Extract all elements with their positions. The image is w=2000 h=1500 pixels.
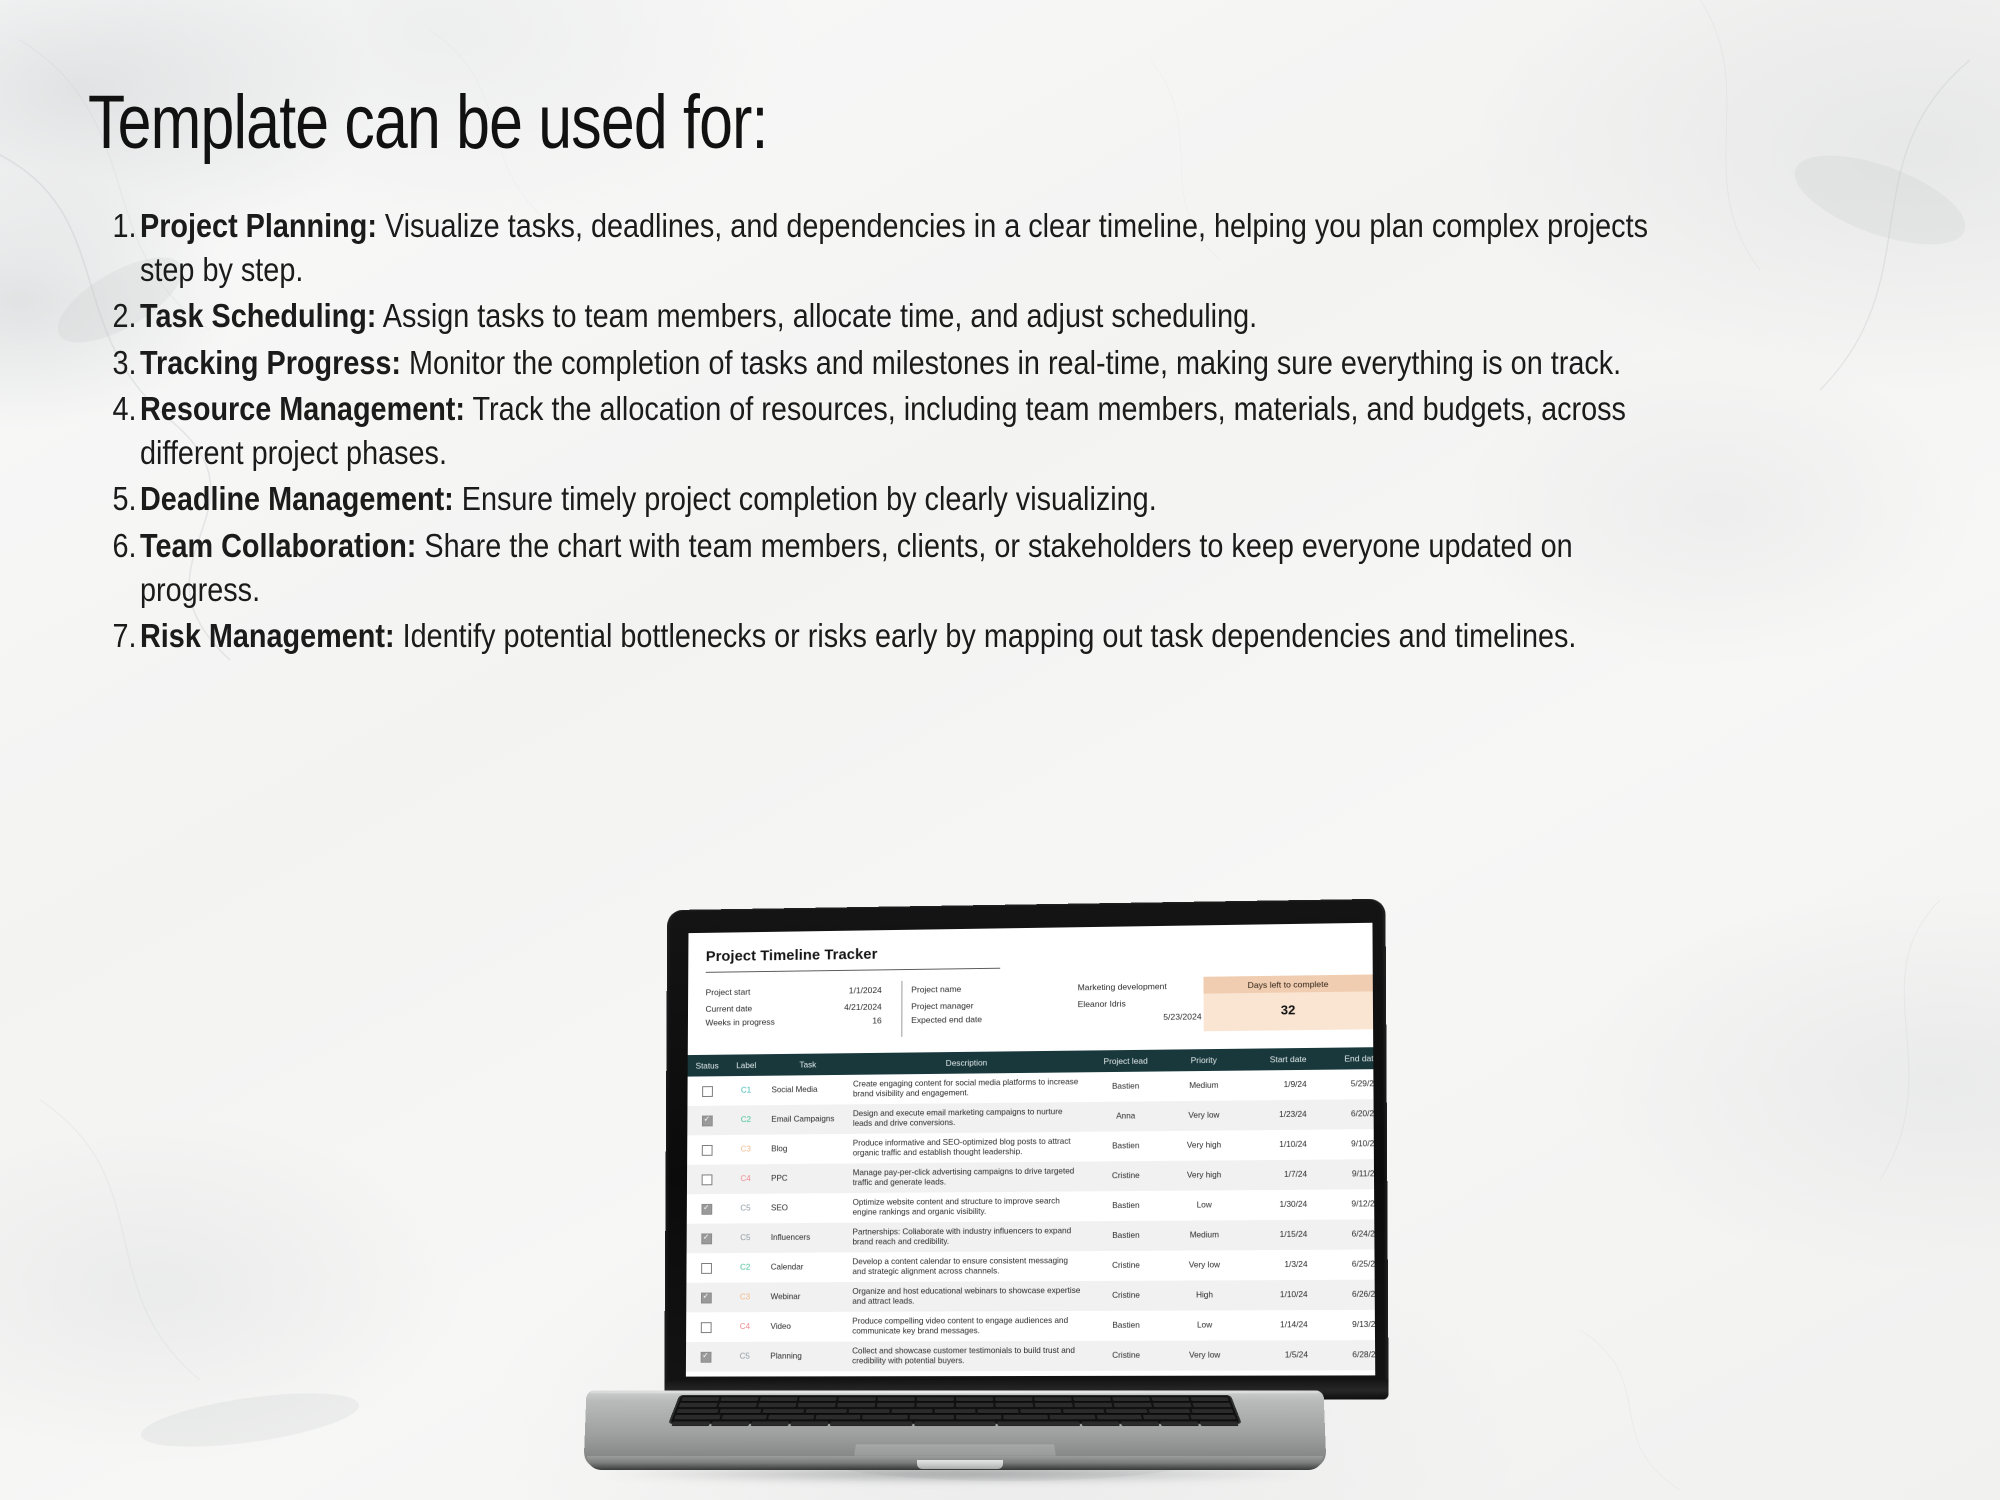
task-name: Blog bbox=[765, 1134, 847, 1164]
keyboard-key bbox=[1106, 1409, 1148, 1413]
priority-value: Very low bbox=[1165, 1100, 1243, 1131]
task-description: Produce compelling video content to enga… bbox=[846, 1311, 1087, 1342]
list-item: 3. Tracking Progress: Monitor the comple… bbox=[100, 342, 1930, 386]
checkbox-icon[interactable] bbox=[700, 1351, 711, 1362]
table-row: C3WebinarOrganize and host educational w… bbox=[686, 1279, 1375, 1312]
title-underline bbox=[706, 968, 1000, 973]
table-row: C5SEOOptimize website content and struct… bbox=[687, 1189, 1375, 1224]
col-status: Status bbox=[688, 1055, 727, 1077]
keyboard-key bbox=[1191, 1409, 1233, 1413]
label-tag: C1 bbox=[726, 1076, 765, 1106]
keyboard-key bbox=[1151, 1397, 1189, 1401]
label-tag: C4 bbox=[725, 1312, 764, 1342]
keyboard-key bbox=[815, 1415, 860, 1419]
keyboard-key bbox=[1063, 1409, 1105, 1413]
end-date: 6/25/24 bbox=[1316, 1249, 1376, 1280]
list-item-term: Risk Management: bbox=[140, 618, 395, 655]
keyboard-key bbox=[909, 1415, 954, 1419]
keyboard-key bbox=[762, 1409, 804, 1413]
task-name: Calendar bbox=[765, 1252, 847, 1282]
keyboard-key bbox=[760, 1397, 798, 1401]
keyboard-key bbox=[877, 1403, 915, 1407]
end-date: 9/12/24 bbox=[1315, 1189, 1375, 1220]
keyboard-key bbox=[758, 1403, 796, 1407]
col-start-date: Start date bbox=[1243, 1048, 1315, 1071]
task-name: Video bbox=[765, 1312, 847, 1342]
info-value: 16 bbox=[819, 1015, 902, 1026]
keyboard-key bbox=[805, 1409, 847, 1413]
start-date: 1/15/24 bbox=[1244, 1220, 1316, 1250]
keyboard-key bbox=[1200, 1421, 1239, 1425]
label-tag: C5 bbox=[726, 1194, 765, 1224]
start-date: 1/14/24 bbox=[1244, 1310, 1316, 1340]
list-item-body: Ensure timely project completion by clea… bbox=[454, 481, 1157, 518]
task-description: Develop a content calendar to ensure con… bbox=[846, 1251, 1086, 1282]
keyboard-key bbox=[1082, 1421, 1120, 1425]
keyboard-key bbox=[1190, 1397, 1229, 1401]
priority-value: Very high bbox=[1165, 1371, 1244, 1377]
checkbox-icon[interactable] bbox=[701, 1262, 712, 1273]
keyboard-key bbox=[1148, 1409, 1190, 1413]
task-description: Conduct research on competitors' marketi… bbox=[846, 1371, 1087, 1377]
keyboard-key bbox=[1190, 1415, 1236, 1419]
project-lead: Cristine bbox=[1087, 1251, 1165, 1281]
use-cases-list: 1. Project Planning: Visualize tasks, de… bbox=[100, 205, 1930, 661]
start-date: 1/10/24 bbox=[1243, 1130, 1315, 1161]
keyboard-key bbox=[676, 1409, 718, 1413]
keyboard-key bbox=[956, 1415, 1001, 1419]
info-key: Weeks in progress bbox=[705, 1016, 818, 1027]
list-item-number: 7. bbox=[106, 615, 140, 659]
list-item-text: Task Scheduling: Assign tasks to team me… bbox=[140, 295, 1679, 339]
spreadsheet-title: Project Timeline Tracker bbox=[706, 946, 878, 965]
keyboard-key bbox=[799, 1397, 837, 1401]
task-name: PPC bbox=[765, 1163, 847, 1193]
project-lead: Cristine bbox=[1087, 1281, 1165, 1311]
col-end-date: End date bbox=[1315, 1047, 1376, 1070]
keyboard-key bbox=[718, 1403, 757, 1407]
task-description: Design and execute email marketing campa… bbox=[847, 1102, 1087, 1134]
list-item-term: Tracking Progress: bbox=[140, 345, 401, 382]
label-tag: C2 bbox=[726, 1253, 765, 1283]
label-tag: C3 bbox=[725, 1372, 764, 1377]
list-item-term: Team Collaboration: bbox=[140, 528, 416, 565]
end-date: 9/12/24 bbox=[1316, 1370, 1375, 1376]
keyboard-key bbox=[935, 1409, 976, 1413]
list-item: 7. Risk Management: Identify potential b… bbox=[100, 615, 1930, 659]
keyboard-key bbox=[1192, 1403, 1231, 1407]
keyboard-key bbox=[891, 1409, 932, 1413]
list-item: 6. Team Collaboration: Share the chart w… bbox=[100, 525, 1930, 613]
priority-value: Low bbox=[1165, 1190, 1244, 1220]
keyboard-key bbox=[674, 1415, 720, 1419]
label-tag: C3 bbox=[725, 1282, 764, 1312]
status-checkbox[interactable] bbox=[687, 1076, 726, 1106]
start-date: 1/10/24 bbox=[1244, 1280, 1316, 1310]
project-lead: Bastien bbox=[1087, 1311, 1165, 1341]
task-name: Social Media bbox=[766, 1075, 848, 1105]
end-date: 6/20/24 bbox=[1315, 1099, 1375, 1130]
keyboard-key bbox=[719, 1409, 761, 1413]
keyboard-key bbox=[1153, 1403, 1192, 1407]
keyboard-key bbox=[914, 1421, 996, 1425]
laptop-keyboard bbox=[671, 1396, 1240, 1423]
label-tag: C5 bbox=[726, 1223, 765, 1253]
keyboard-key bbox=[679, 1403, 718, 1407]
priority-value: Low bbox=[1165, 1310, 1244, 1340]
status-checkbox[interactable] bbox=[687, 1164, 726, 1194]
start-date: 1/23/24 bbox=[1243, 1100, 1315, 1131]
col-description: Description bbox=[847, 1051, 1087, 1075]
project-lead: Bastien bbox=[1087, 1221, 1165, 1251]
end-date: 9/13/24 bbox=[1316, 1310, 1375, 1340]
keyboard-key bbox=[1143, 1415, 1189, 1419]
status-checkbox[interactable] bbox=[686, 1312, 725, 1342]
info-key: Expected end date bbox=[911, 1013, 1077, 1025]
keyboard-key bbox=[917, 1397, 954, 1401]
project-info-right: Project name Marketing development Proje… bbox=[901, 977, 1209, 1037]
label-tag: C4 bbox=[726, 1164, 765, 1194]
list-item-term: Project Planning: bbox=[140, 208, 377, 245]
status-checkbox[interactable] bbox=[686, 1372, 725, 1377]
keyboard-key bbox=[995, 1397, 1032, 1401]
keyboard-key bbox=[1035, 1403, 1073, 1407]
info-value: Marketing development bbox=[1078, 980, 1210, 992]
task-name: SEO bbox=[765, 1193, 847, 1223]
task-name: Planning bbox=[764, 1342, 846, 1372]
checkbox-icon[interactable] bbox=[701, 1174, 712, 1185]
info-row: Weeks in progress 16 bbox=[705, 1014, 901, 1039]
keyboard-key bbox=[877, 1397, 914, 1401]
info-value: 1/1/2024 bbox=[819, 984, 902, 995]
laptop-screen: Project Timeline Tracker Project start 1… bbox=[686, 923, 1375, 1377]
list-item-number: 1. bbox=[106, 205, 140, 249]
task-description: Organize and host educational webinars t… bbox=[846, 1281, 1087, 1312]
end-date: 5/29/24 bbox=[1315, 1069, 1376, 1100]
checkbox-icon[interactable] bbox=[701, 1203, 712, 1214]
list-item-body: Monitor the completion of tasks and mile… bbox=[401, 345, 1621, 382]
info-key: Current date bbox=[706, 1002, 819, 1013]
task-description: Create engaging content for social media… bbox=[847, 1072, 1087, 1104]
list-item-number: 5. bbox=[106, 478, 140, 522]
keyboard-key bbox=[998, 1421, 1081, 1425]
keyboard-key bbox=[1074, 1403, 1112, 1407]
project-lead: Anna bbox=[1087, 1371, 1165, 1377]
list-item: 4. Resource Management: Track the alloca… bbox=[100, 388, 1930, 476]
keyboard-key bbox=[1112, 1397, 1150, 1401]
keyboard-key bbox=[838, 1397, 876, 1401]
checkbox-icon[interactable] bbox=[701, 1233, 712, 1244]
table-row: C5InfluencersPartnerships: Collaborate w… bbox=[687, 1219, 1376, 1253]
priority-value: Very low bbox=[1165, 1340, 1244, 1370]
keyboard-key bbox=[711, 1421, 750, 1425]
laptop-trackpad bbox=[854, 1444, 1056, 1455]
priority-value: Very high bbox=[1165, 1160, 1244, 1191]
priority-value: Very high bbox=[1165, 1130, 1244, 1161]
keyboard-key bbox=[956, 1403, 994, 1407]
list-item-number: 4. bbox=[106, 388, 140, 432]
keyboard-key bbox=[1121, 1421, 1159, 1425]
col-task: Task bbox=[766, 1053, 847, 1076]
end-date: 9/11/24 bbox=[1315, 1159, 1375, 1190]
status-checkbox[interactable] bbox=[687, 1135, 726, 1165]
list-item-text: Tracking Progress: Monitor the completio… bbox=[140, 342, 1679, 386]
task-name: Customer bbox=[764, 1371, 846, 1376]
project-lead: Bastien bbox=[1087, 1131, 1165, 1161]
project-lead: Anna bbox=[1087, 1101, 1165, 1132]
start-date: 1/9/24 bbox=[1243, 1070, 1315, 1101]
label-tag: C2 bbox=[726, 1105, 765, 1135]
status-checkbox[interactable] bbox=[687, 1194, 726, 1224]
task-description: Produce informative and SEO-optimized bl… bbox=[847, 1132, 1087, 1164]
keyboard-key bbox=[768, 1415, 814, 1419]
checkbox-icon[interactable] bbox=[702, 1086, 713, 1097]
keyboard-key bbox=[916, 1403, 954, 1407]
task-description: Optimize website content and structure t… bbox=[847, 1191, 1087, 1222]
info-value: Eleanor Idris bbox=[1078, 997, 1210, 1009]
keyboard-key bbox=[995, 1403, 1033, 1407]
status-checkbox[interactable] bbox=[687, 1223, 726, 1253]
keyboard-key bbox=[1003, 1415, 1048, 1419]
end-date: 6/26/24 bbox=[1316, 1280, 1376, 1310]
table-row: C2CalendarDevelop a content calendar to … bbox=[686, 1249, 1375, 1283]
info-key: Project manager bbox=[911, 999, 1077, 1011]
keyboard-key bbox=[1073, 1397, 1111, 1401]
start-date: 1/5/24 bbox=[1244, 1340, 1316, 1370]
task-name: Webinar bbox=[765, 1282, 847, 1312]
keyboard-key bbox=[1034, 1397, 1072, 1401]
task-name: Influencers bbox=[765, 1223, 847, 1253]
project-lead: Bastien bbox=[1087, 1191, 1165, 1221]
label-tag: C3 bbox=[726, 1135, 765, 1165]
task-description: Collect and showcase customer testimonia… bbox=[846, 1341, 1087, 1371]
keyboard-key bbox=[1160, 1421, 1199, 1425]
keyboard-key bbox=[837, 1403, 875, 1407]
laptop-lid: Project Timeline Tracker Project start 1… bbox=[664, 899, 1388, 1401]
col-label: Label bbox=[727, 1054, 766, 1076]
priority-value: Very low bbox=[1165, 1250, 1244, 1280]
spreadsheet: Project Timeline Tracker Project start 1… bbox=[686, 923, 1375, 1377]
keyboard-key bbox=[977, 1409, 1018, 1413]
project-lead: Bastien bbox=[1087, 1071, 1165, 1102]
task-description: Manage pay-per-click advertising campaig… bbox=[847, 1162, 1087, 1194]
keyboard-key bbox=[681, 1397, 720, 1401]
list-item-number: 2. bbox=[106, 295, 140, 339]
checkbox-icon[interactable] bbox=[700, 1322, 711, 1333]
list-item-text: Deadline Management: Ensure timely proje… bbox=[140, 478, 1679, 522]
list-item-text: Risk Management: Identify potential bott… bbox=[140, 615, 1679, 659]
table-row: C4VideoProduce compelling video content … bbox=[686, 1310, 1375, 1342]
priority-value: High bbox=[1165, 1280, 1244, 1310]
keyboard-key bbox=[956, 1397, 993, 1401]
priority-value: Medium bbox=[1165, 1071, 1243, 1102]
start-date: 1/7/24 bbox=[1244, 1370, 1316, 1376]
list-item-body: Identify potential bottlenecks or risks … bbox=[395, 618, 1577, 655]
status-checkbox[interactable] bbox=[686, 1342, 725, 1372]
keyboard-key bbox=[862, 1415, 907, 1419]
start-date: 1/3/24 bbox=[1244, 1250, 1316, 1280]
keyboard-key bbox=[1114, 1403, 1152, 1407]
keyboard-key bbox=[798, 1403, 836, 1407]
list-item-term: Task Scheduling: bbox=[140, 298, 376, 335]
keyboard-key bbox=[672, 1421, 711, 1425]
laptop-shadow bbox=[603, 1466, 1307, 1482]
list-item-term: Resource Management: bbox=[140, 391, 465, 428]
keyboard-key bbox=[1020, 1409, 1061, 1413]
task-table-body: C1Social MediaCreate engaging content fo… bbox=[686, 1068, 1375, 1376]
list-item: 1. Project Planning: Visualize tasks, de… bbox=[100, 205, 1930, 293]
start-date: 1/30/24 bbox=[1243, 1190, 1315, 1221]
keyboard-key bbox=[721, 1415, 767, 1419]
keyboard-key bbox=[1096, 1415, 1142, 1419]
list-item: 2. Task Scheduling: Assign tasks to team… bbox=[100, 295, 1930, 339]
checkbox-icon[interactable] bbox=[700, 1292, 711, 1303]
info-value: 5/23/2024 bbox=[1078, 1011, 1210, 1023]
task-table: Status Label Task Description Project le… bbox=[686, 1046, 1375, 1376]
info-value: 4/21/2024 bbox=[819, 1001, 902, 1012]
keyboard-row bbox=[669, 1420, 1241, 1426]
list-item-text: Resource Management: Track the allocatio… bbox=[140, 388, 1679, 476]
list-item-term: Deadline Management: bbox=[140, 481, 454, 518]
project-lead: Cristine bbox=[1087, 1161, 1165, 1191]
priority-value: Medium bbox=[1165, 1220, 1244, 1250]
list-item: 5. Deadline Management: Ensure timely pr… bbox=[100, 478, 1930, 522]
list-item-text: Team Collaboration: Share the chart with… bbox=[140, 525, 1679, 613]
status-checkbox[interactable] bbox=[686, 1283, 725, 1313]
info-key: Project start bbox=[706, 985, 819, 996]
col-project-lead: Project lead bbox=[1087, 1050, 1165, 1073]
list-item-number: 6. bbox=[106, 525, 140, 569]
project-lead: Cristine bbox=[1087, 1341, 1165, 1371]
checkbox-icon[interactable] bbox=[701, 1144, 712, 1155]
days-left-card: Days left to complete 32 bbox=[1203, 974, 1373, 1031]
checkbox-icon[interactable] bbox=[701, 1115, 712, 1126]
keyboard-key bbox=[848, 1409, 889, 1413]
status-checkbox[interactable] bbox=[686, 1253, 725, 1283]
end-date: 9/10/24 bbox=[1315, 1129, 1375, 1160]
project-info-left: Project start 1/1/2024 Current date 4/21… bbox=[705, 981, 901, 1039]
table-row: C5PlanningCollect and showcase customer … bbox=[686, 1340, 1375, 1372]
keyboard-key bbox=[830, 1421, 913, 1425]
keyboard-key bbox=[751, 1421, 789, 1425]
list-item-number: 3. bbox=[106, 342, 140, 386]
info-row: Expected end date 5/23/2024 bbox=[911, 1010, 1210, 1036]
status-checkbox[interactable] bbox=[687, 1106, 726, 1136]
end-date: 6/28/24 bbox=[1316, 1340, 1375, 1370]
end-date: 6/24/24 bbox=[1315, 1219, 1375, 1250]
task-description: Partnerships: Collaborate with industry … bbox=[847, 1221, 1087, 1252]
info-key: Project name bbox=[911, 982, 1077, 994]
table-row: C4PPCManage pay-per-click advertising ca… bbox=[687, 1159, 1375, 1195]
list-item-body: Assign tasks to team members, allocate t… bbox=[376, 298, 1257, 335]
page-title: Template can be used for: bbox=[88, 84, 768, 162]
list-item-text: Project Planning: Visualize tasks, deadl… bbox=[140, 205, 1679, 293]
col-priority: Priority bbox=[1165, 1049, 1243, 1072]
days-left-value: 32 bbox=[1204, 991, 1374, 1031]
table-row: C3CustomerConduct research on competitor… bbox=[686, 1370, 1375, 1376]
label-tag: C5 bbox=[725, 1342, 764, 1372]
task-name: Email Campaigns bbox=[765, 1104, 847, 1134]
keyboard-key bbox=[720, 1397, 758, 1401]
laptop-mockup: Project Timeline Tracker Project start 1… bbox=[585, 900, 1325, 1500]
keyboard-key bbox=[790, 1421, 828, 1425]
start-date: 1/7/24 bbox=[1243, 1160, 1315, 1191]
keyboard-key bbox=[1049, 1415, 1094, 1419]
